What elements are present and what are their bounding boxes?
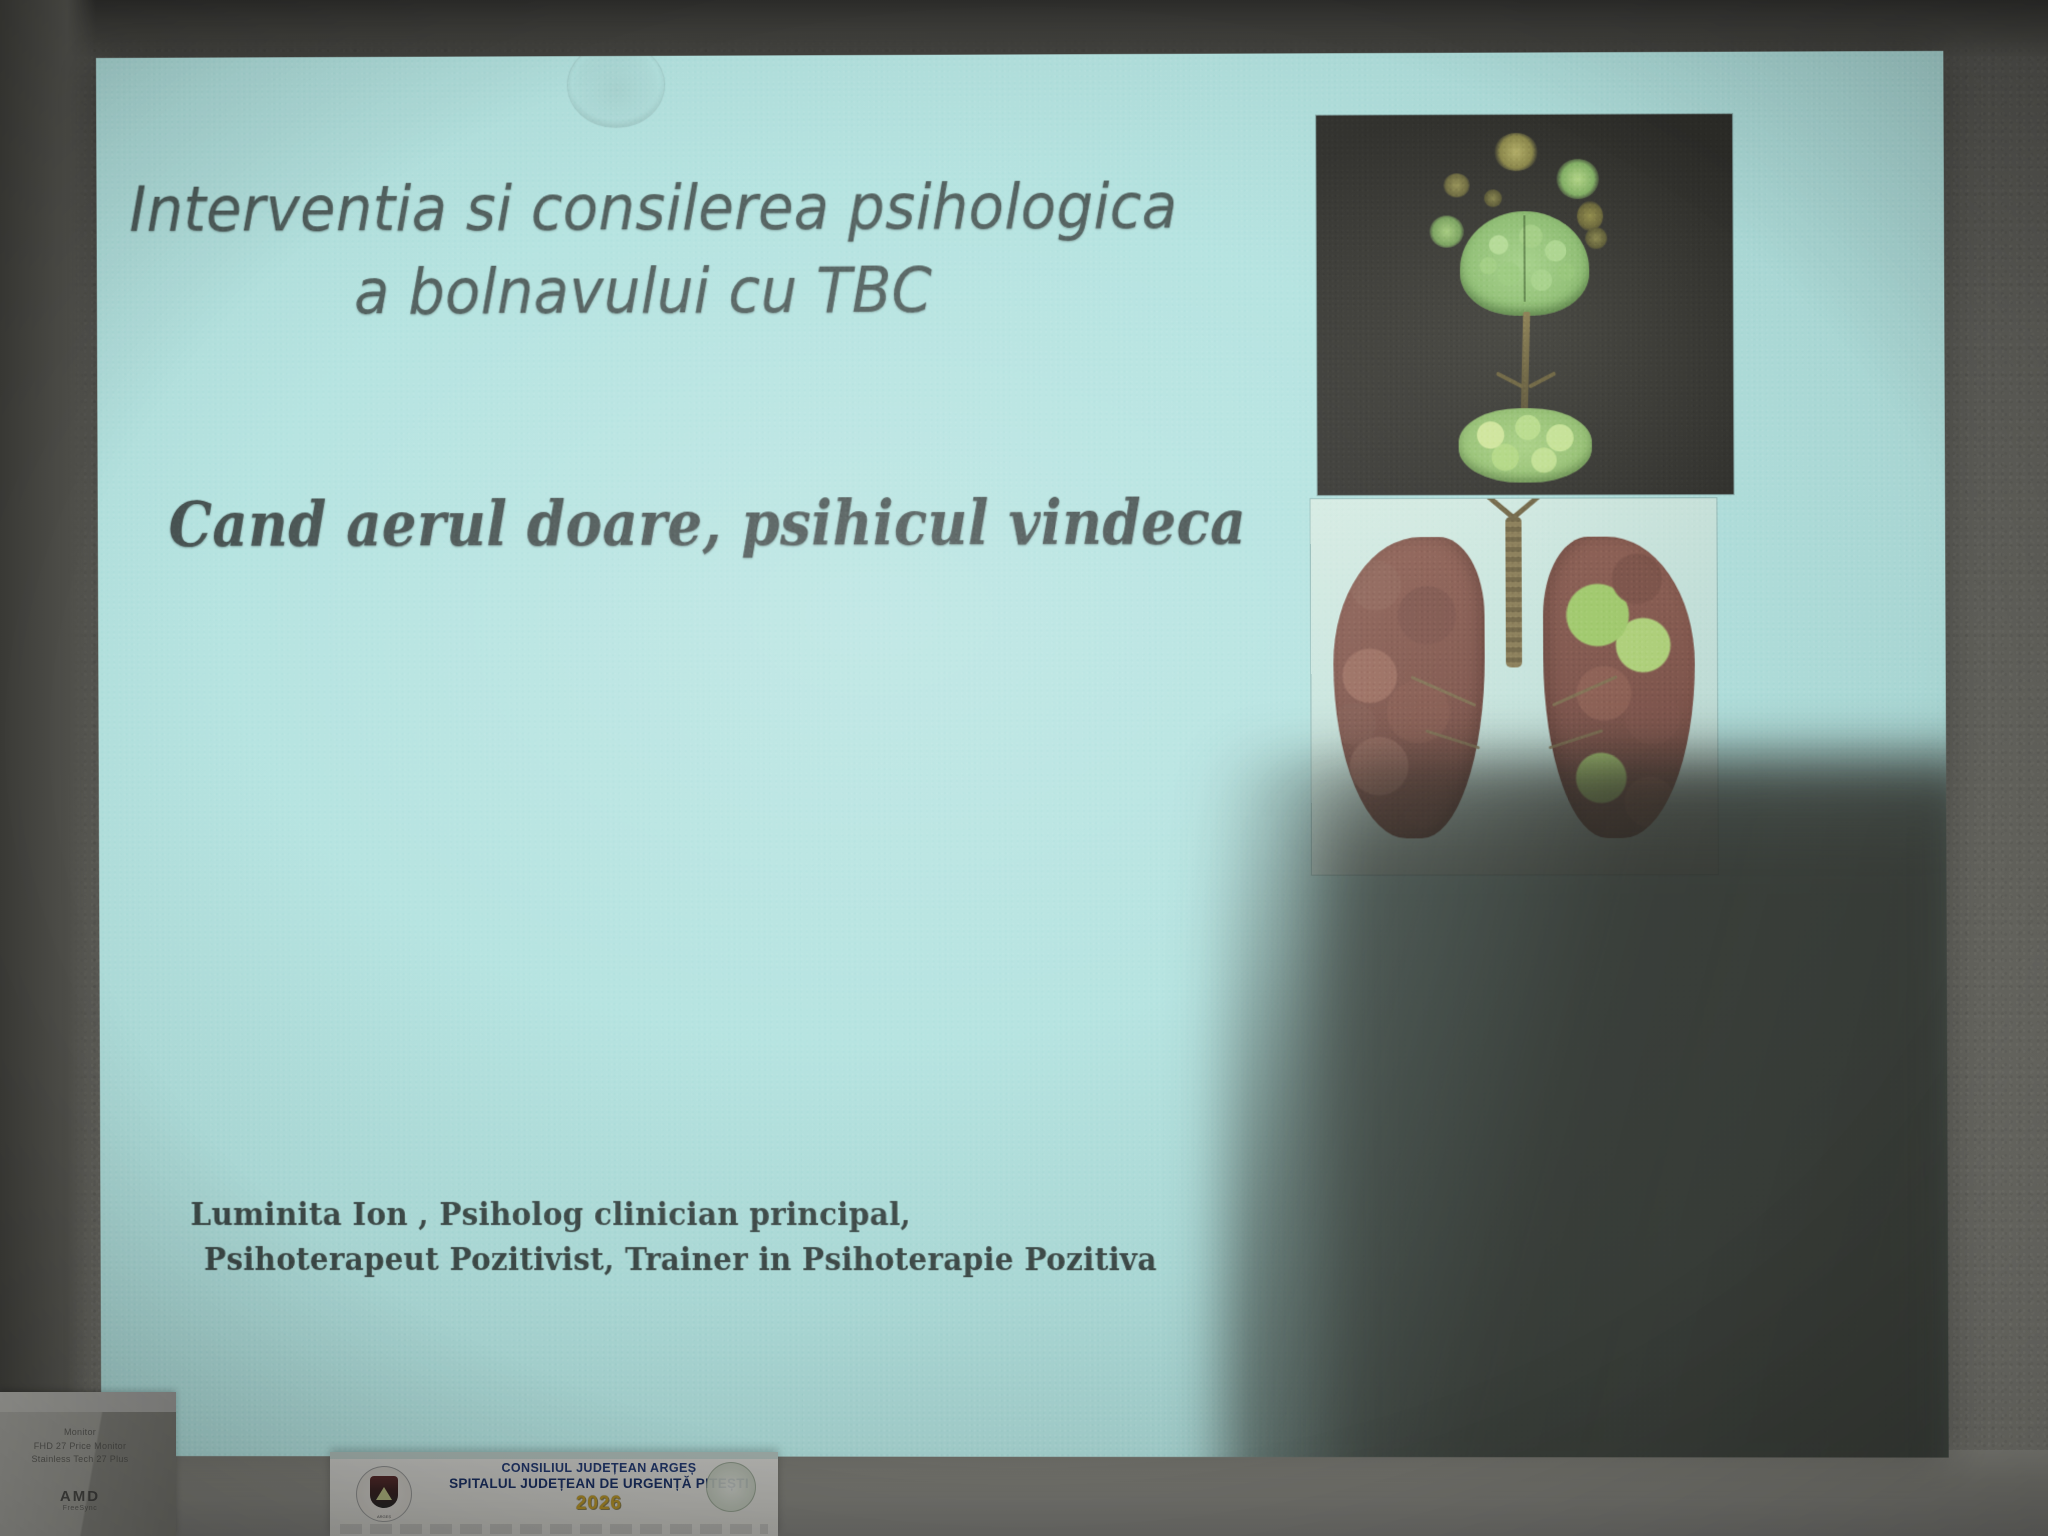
slide-credits: Luminita Ion , Psiholog clinician princi… (190, 1193, 1396, 1283)
room-ledge (0, 1450, 2048, 1536)
ceiling-fixture-shadow (567, 51, 666, 128)
foliage-lungs-image (1311, 498, 1718, 874)
slide-tagline: Cand aerul doare, psihicul vindeca (168, 485, 1211, 561)
placard-top-edge (330, 1452, 778, 1459)
box-caption-line-2: FHD 27 Price Monitor (20, 1440, 140, 1454)
spore-burst-icon (1443, 173, 1469, 197)
crest-shield (370, 1476, 398, 1508)
title-line-2: a bolnavului cu TBC (126, 248, 1162, 334)
crest-caption: ARGEȘ (377, 1514, 391, 1519)
county-crest-icon: ARGEȘ (356, 1466, 412, 1522)
brain-tree-image (1316, 114, 1733, 495)
photo-scene: Interventia si consilerea psihologica a … (0, 0, 2048, 1536)
title-line-1: Interventia si consilerea psihologica (129, 164, 1162, 251)
spore-burst-icon (1494, 133, 1539, 171)
spore-burst-icon (1556, 159, 1599, 199)
spore-burst-icon (1430, 215, 1464, 247)
trachea (1505, 517, 1522, 668)
cardboard-box: Monitor FHD 27 Price Monitor Stainless T… (0, 1392, 176, 1536)
box-caption-line-1: Monitor (20, 1426, 140, 1440)
amd-logo-sub: FreeSync (22, 1505, 138, 1512)
spore-burst-icon (1585, 227, 1607, 249)
box-caption-line-3: Stainless Tech 27 Plus (20, 1453, 140, 1467)
spore-burst-icon (1484, 189, 1502, 207)
hospital-placard: ARGEȘ CONSILIUL JUDEȚEAN ARGEȘ SPITALUL … (330, 1452, 778, 1536)
placard-fine-print (340, 1524, 768, 1534)
projected-slide: Interventia si consilerea psihologica a … (96, 51, 1949, 1458)
beam-shadow-core (1320, 816, 1949, 1458)
amd-logo: AMD FreeSync (22, 1488, 138, 1512)
root-cluster (1459, 408, 1593, 483)
amd-logo-text: AMD (60, 1488, 100, 1505)
box-caption: Monitor FHD 27 Price Monitor Stainless T… (20, 1426, 140, 1467)
slide-title: Interventia si consilerea psihologica a … (96, 164, 1201, 334)
wall-left-shadow (0, 0, 96, 1536)
credit-line-1: Luminita Ion , Psiholog clinician princi… (190, 1193, 1335, 1238)
hospital-emblem-icon (706, 1462, 756, 1512)
box-lid (0, 1392, 176, 1412)
credit-line-2: Psihoterapeut Pozitivist, Trainer in Psi… (191, 1238, 1336, 1283)
